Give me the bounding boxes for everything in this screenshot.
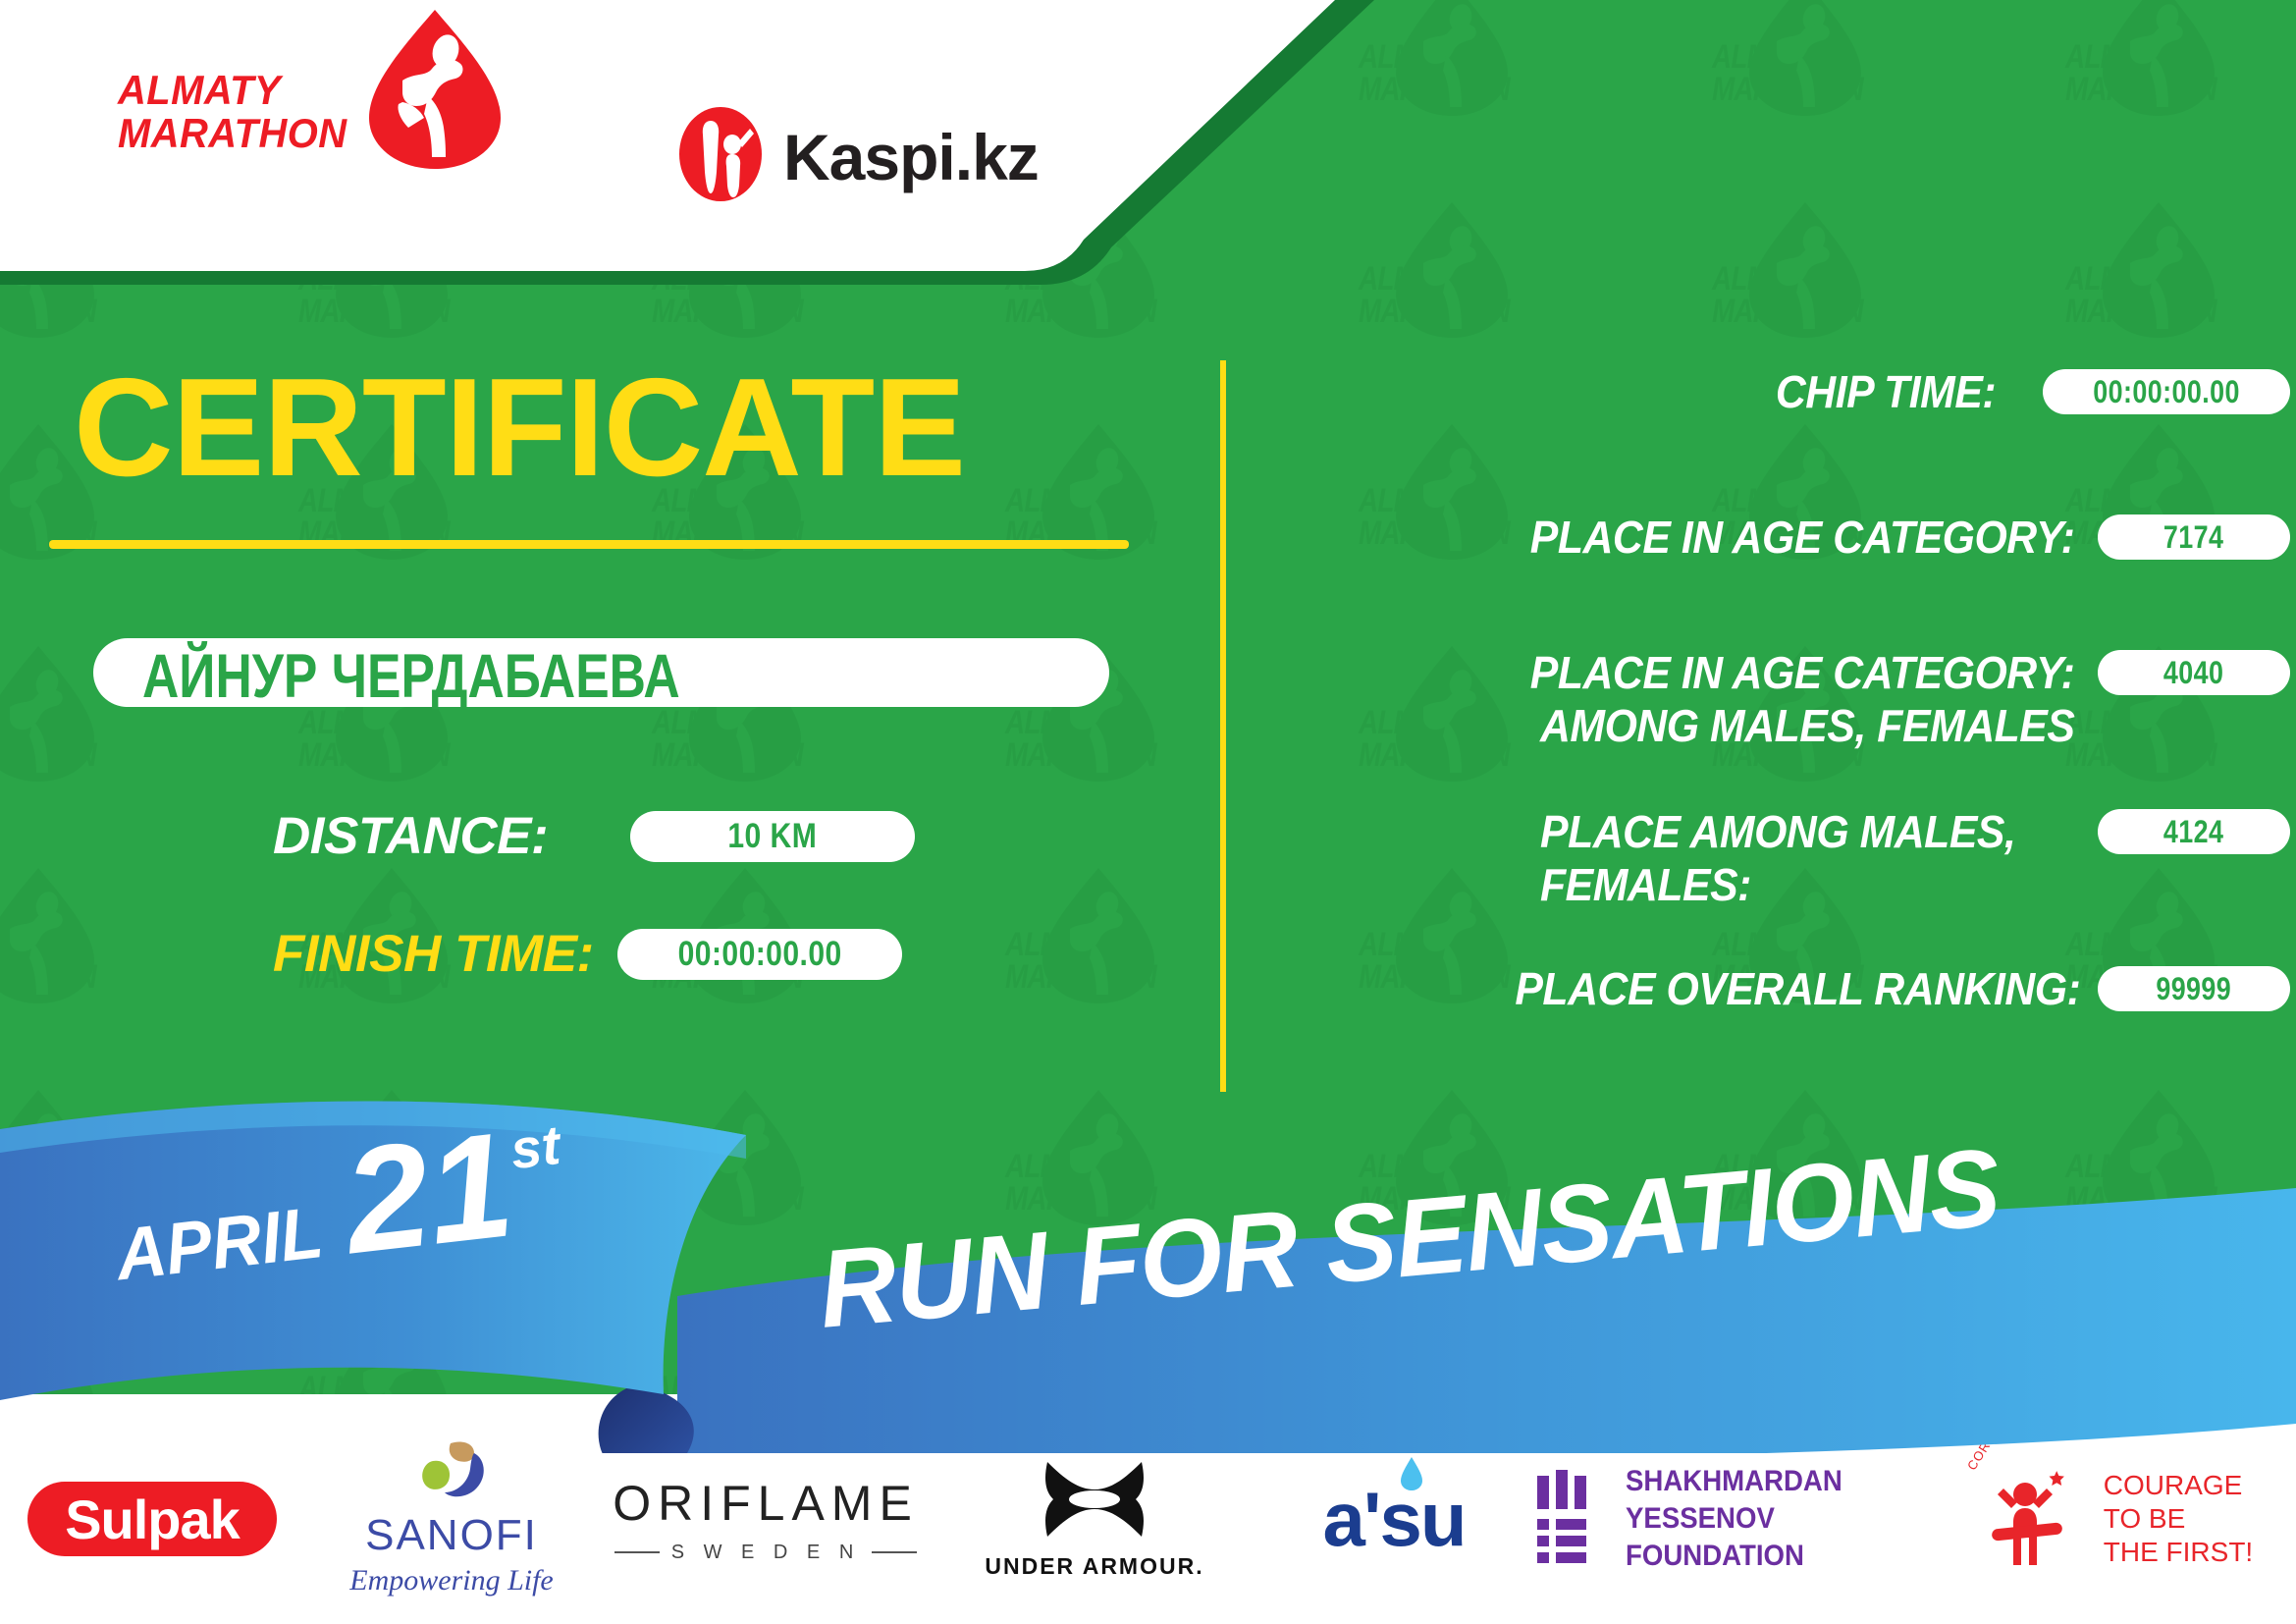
sponsor-sulpak: Sulpak [0, 1440, 304, 1597]
asu-logo-text: a'su [1323, 1476, 1466, 1562]
stat-row-place-age: PLACE IN AGE CATEGORY: 7174 [1308, 511, 2290, 564]
kaspi-logo: Kaspi.kz [677, 103, 1039, 210]
sponsor-yessenov: SHAKHMARDAN YESSENOV FOUNDATION [1531, 1440, 1944, 1597]
watermark-text: ALMATY MARATHON [1005, 929, 1156, 994]
oriflame-rule-left [614, 1551, 660, 1553]
finish-time-label: FINISH TIME: [273, 928, 594, 980]
watermark-tile: ALMATY MARATHON [2061, 0, 2296, 183]
sulpak-logo: Sulpak [27, 1482, 277, 1556]
distance-row: DISTANCE: 10 KM [273, 810, 915, 862]
sanofi-tagline: Empowering Life [349, 1564, 554, 1597]
watermark-text: ALMATY MARATHON [2065, 41, 2216, 106]
sponsor-under-armour: UNDER ARMOUR. [933, 1440, 1256, 1597]
courage-logo-text: COURAGE TO BE THE FIRST! [2104, 1469, 2253, 1569]
sponsor-courage: CORPORATE FUND COURAGE TO BE THE FIRST! [1944, 1440, 2277, 1597]
stat-label-overall: PLACE OVERALL RANKING: [1515, 962, 2080, 1015]
stat-row-chip-time: CHIP TIME: 00:00:00.00 [1308, 365, 2290, 418]
courage-figure-icon: CORPORATE FUND [1968, 1459, 2090, 1580]
watermark-text: ALMATY MARATHON [1005, 707, 1156, 772]
watermark-tile: ALMATY MARATHON [1355, 0, 1708, 183]
watermark-text: ALMATY MARATHON [298, 707, 450, 772]
oriflame-logo-text: ORIFLAME [613, 1475, 919, 1532]
stat-value-place-gender: 4124 [2163, 816, 2223, 847]
sponsor-oriflame: ORIFLAME S W E D E N [599, 1440, 933, 1597]
stat-label-place-age-gender: PLACE IN AGE CATEGORY: AMONG MALES, FEMA… [1529, 646, 2074, 752]
yessenov-logo-text: SHAKHMARDAN YESSENOV FOUNDATION [1626, 1463, 1918, 1575]
stat-pill-overall: 99999 [2098, 966, 2290, 1011]
stat-value-place-age: 7174 [2163, 521, 2223, 553]
watermark-tile: ALMATY MARATHON [1001, 405, 1355, 626]
yessenov-mark-icon [1531, 1470, 1604, 1569]
watermark-text: ALMATY MARATHON [1712, 41, 1863, 106]
finish-time-value: 00:00:00.00 [677, 937, 841, 971]
watermark-text: ALMATY MARATHON [0, 707, 96, 772]
distance-value-pill: 10 KM [630, 811, 915, 862]
sanofi-logo: SANOFI Empowering Life [349, 1441, 554, 1597]
stat-value-chip-time: 00:00:00.00 [2093, 376, 2240, 407]
stat-row-place-age-gender: PLACE IN AGE CATEGORY: AMONG MALES, FEMA… [1308, 646, 2290, 752]
distance-label: DISTANCE: [273, 810, 548, 862]
finish-time-row: FINISH TIME: 00:00:00.00 [273, 928, 902, 980]
under-armour-icon [1036, 1458, 1153, 1545]
stat-value-overall: 99999 [2157, 973, 2232, 1004]
almaty-marathon-logo: ALMATY MARATHON [118, 47, 503, 176]
stat-pill-place-age: 7174 [2098, 514, 2290, 560]
stat-pill-place-gender: 4124 [2098, 809, 2290, 854]
oriflame-rule-right [872, 1551, 917, 1553]
page-title: CERTIFICATE [74, 358, 965, 498]
title-underline [49, 540, 1129, 549]
watermark-text: ALMATY MARATHON [652, 707, 803, 772]
event-month: APRIL [112, 1196, 326, 1291]
watermark-tile: ALMATY MARATHON [1001, 848, 1355, 1070]
sanofi-logo-text: SANOFI [365, 1511, 538, 1560]
watermark-tile: ALMATY MARATHON [0, 848, 294, 1070]
watermark-text: ALMATY MARATHON [2065, 263, 2216, 328]
stat-row-overall: PLACE OVERALL RANKING: 99999 [1308, 962, 2290, 1015]
under-armour-logo: UNDER ARMOUR. [985, 1458, 1203, 1580]
watermark-text: ALMATY MARATHON [0, 929, 96, 994]
oriflame-tagline: S W E D E N [671, 1542, 861, 1564]
event-day: 21 [339, 1115, 519, 1271]
oriflame-sub: S W E D E N [614, 1542, 918, 1564]
event-day-suffix: st [507, 1117, 562, 1177]
certificate-root: ALMATY MARATHONALMATY MARATHONALMATY MAR… [0, 0, 2296, 1624]
stat-pill-place-age-gender: 4040 [2098, 650, 2290, 695]
yessenov-logo: SHAKHMARDAN YESSENOV FOUNDATION [1531, 1463, 1944, 1575]
watermark-text: ALMATY MARATHON [1712, 263, 1863, 328]
stat-label-place-gender: PLACE AMONG MALES, FEMALES: [1540, 805, 2015, 911]
stat-label-place-age: PLACE IN AGE CATEGORY: [1529, 511, 2074, 564]
finish-time-value-pill: 00:00:00.00 [617, 929, 902, 980]
kaspi-logo-text: Kaspi.kz [783, 120, 1039, 194]
kaspi-people-icon [677, 103, 764, 210]
under-armour-logo-text: UNDER ARMOUR. [985, 1553, 1203, 1580]
sponsor-asu: a'su [1256, 1440, 1531, 1597]
stat-value-place-age-gender: 4040 [2163, 657, 2223, 688]
distance-value: 10 KM [728, 819, 818, 853]
courage-logo: CORPORATE FUND COURAGE TO BE THE FIRST! [1968, 1459, 2253, 1580]
stat-row-place-gender: PLACE AMONG MALES, FEMALES: 4124 [1308, 805, 2290, 911]
stat-label-chip-time: CHIP TIME: [1776, 365, 1996, 418]
asu-logo: a'su [1323, 1475, 1466, 1564]
participant-name: АЙНУР ЧЕРДАБАЕВА [142, 646, 680, 708]
almaty-marathon-logo-text: ALMATY MARATHON [118, 69, 347, 155]
vertical-divider [1220, 360, 1226, 1092]
sulpak-logo-text: Sulpak [65, 1488, 240, 1551]
watermark-tile: ALMATY MARATHON [1708, 0, 2061, 183]
runner-drop-icon [367, 8, 503, 176]
oriflame-logo: ORIFLAME S W E D E N [613, 1475, 919, 1564]
stat-pill-chip-time: 00:00:00.00 [2043, 369, 2290, 414]
sponsor-sanofi: SANOFI Empowering Life [304, 1440, 599, 1597]
